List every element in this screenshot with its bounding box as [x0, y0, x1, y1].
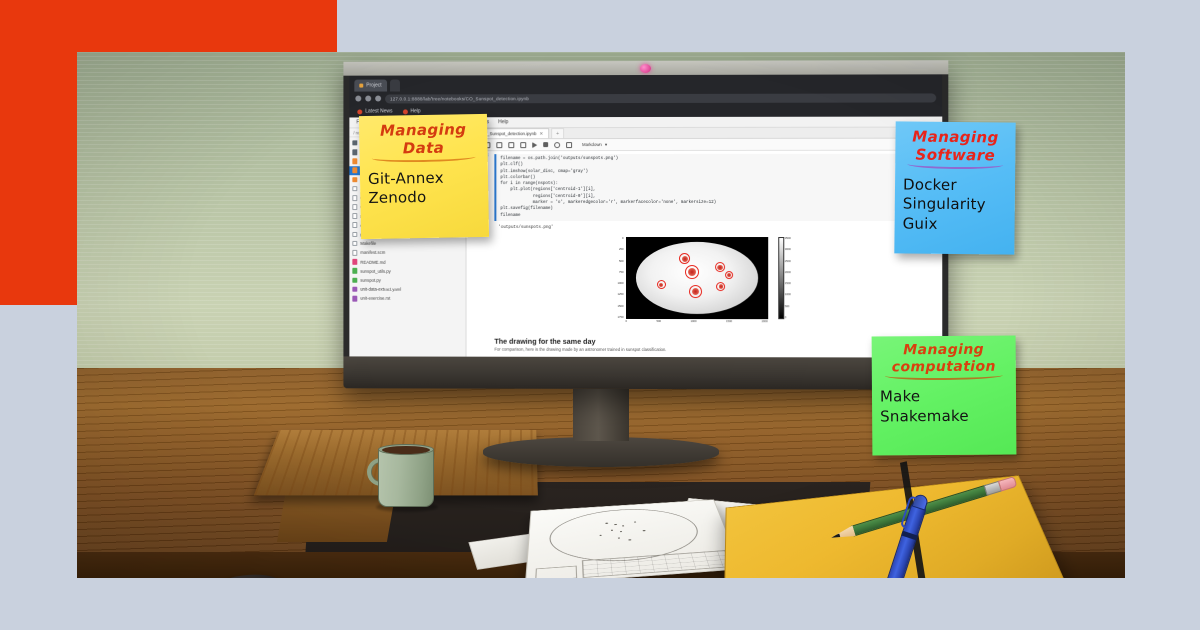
pencil-graphite-tip	[831, 533, 841, 539]
code-line-2: plt.clf()	[500, 163, 523, 167]
note-title: Managing Software	[903, 127, 1007, 169]
cell-type-select[interactable]: Markdown ▾	[582, 142, 607, 148]
sticky-note-managing-computation: Managing computation Make Snakemake	[872, 335, 1017, 455]
file-name: Makefile	[360, 241, 376, 246]
notebook-icon	[352, 177, 357, 183]
cbar-tick: 1500	[785, 282, 798, 285]
bookmark-help[interactable]: Help	[402, 108, 420, 114]
list-item[interactable]: manifest.scm	[349, 248, 465, 257]
output-cell: [17]: 'outputs/sunspots.png'	[467, 222, 943, 232]
new-tab-button[interactable]: +	[551, 128, 564, 138]
x-tick: 500	[657, 320, 661, 328]
back-icon[interactable]	[355, 96, 361, 102]
mug-body	[378, 447, 434, 507]
note-title-line1: Managing	[880, 342, 1008, 360]
sunspot-figure: 0 250 500 750 1000 1250 1500 1750	[610, 234, 798, 330]
colorbar	[778, 237, 784, 319]
bookmark-latest-news[interactable]: Latest News	[357, 108, 392, 114]
coffee-mug	[370, 442, 440, 510]
note-title-line1: Managing	[903, 127, 1007, 146]
y-tick: 750	[619, 271, 623, 274]
code-line-3: plt.imshow(solar_disc, cmap='gray')	[500, 170, 588, 174]
note-item-list: Make Snakemake	[880, 387, 1008, 427]
sunspot-drawing-sheet	[525, 499, 742, 578]
coffee-surface	[382, 446, 430, 454]
rst-icon	[352, 296, 357, 302]
note-item-list: Git-Annex Zenodo	[368, 168, 481, 210]
list-item[interactable]: unit-exercise.rst	[349, 294, 465, 303]
cell-type-value: Markdown	[582, 142, 602, 147]
note-item: Guix	[903, 215, 1007, 236]
notebook-panel: 02_Sunspot_detection.ipynb ✕ +	[467, 128, 943, 358]
code-editor[interactable]: filename = os.path.join('outputs/sunspot…	[494, 154, 942, 221]
notebook-toolbar: Markdown ▾ Python 3	[467, 139, 943, 152]
y-tick: 0	[622, 237, 623, 240]
monitor-top-bezel	[343, 60, 948, 75]
drawing-legend-box	[535, 566, 577, 578]
y-tick: 1750	[618, 316, 624, 319]
x-tick: 0	[626, 320, 627, 328]
file-icon	[352, 195, 357, 201]
python-icon	[352, 277, 357, 283]
cut-icon[interactable]	[496, 142, 502, 148]
sticky-note-managing-data: Managing Data Git-Annex Zenodo	[359, 114, 489, 239]
sunspot-marker	[725, 271, 733, 279]
notebook-scroll-area[interactable]: [17]: filename = os.path.join('outputs/s…	[467, 151, 943, 358]
accent-block-top	[0, 0, 337, 52]
notebook-tab-bar: 02_Sunspot_detection.ipynb ✕ +	[467, 128, 943, 140]
note-title: Managing Data	[367, 120, 480, 163]
file-name: unit-data-extract.yaml	[360, 287, 401, 292]
cbar-tick: 2500	[785, 260, 798, 263]
list-item[interactable]: README.md	[349, 257, 465, 266]
sticky-note-managing-software: Managing Software Docker Singularity Gui…	[894, 121, 1015, 254]
paste-icon[interactable]	[520, 142, 526, 148]
close-icon[interactable]: ✕	[539, 131, 543, 137]
cbar-tick: 3500	[785, 237, 798, 240]
x-tick: 2000	[762, 320, 768, 328]
output-body: 'outputs/sunspots.png'	[494, 225, 942, 231]
bookmark-label-2: Help	[410, 108, 420, 114]
forward-icon[interactable]	[365, 96, 371, 102]
notebook-icon	[352, 168, 357, 174]
y-tick: 500	[619, 260, 623, 263]
sunspot-marker	[685, 265, 699, 279]
cbar-tick: 500	[785, 305, 798, 308]
note-item: Make	[880, 387, 1008, 408]
y-tick: 250	[619, 248, 623, 251]
note-title-line1: Managing	[367, 120, 479, 140]
code-line-4: plt.colorbar()	[500, 176, 535, 180]
monitor-stand-base	[483, 437, 719, 467]
note-item: Git-Annex	[368, 168, 480, 190]
code-line-8: marker = 'o', markeredgecolor='r', marke…	[500, 201, 716, 205]
x-tick: 1000	[691, 320, 697, 328]
list-item[interactable]: unit-data-extract.yaml	[349, 285, 465, 294]
note-item-list: Docker Singularity Guix	[903, 175, 1008, 235]
list-item[interactable]: sunspot_utils.py	[349, 266, 465, 275]
run-icon[interactable]	[532, 142, 537, 148]
webcam-led-icon	[640, 64, 651, 73]
cbar-tick: 3000	[785, 248, 798, 251]
bookmark-icon-2	[402, 109, 407, 114]
monitor-stand-neck	[573, 389, 629, 441]
notebook-tab-label: 02_Sunspot_detection.ipynb	[482, 131, 536, 136]
note-title: Managing computation	[880, 342, 1008, 381]
file-icon	[352, 186, 357, 192]
browser-tab-active[interactable]: Project	[354, 80, 386, 92]
cbar-tick: 0	[785, 316, 798, 319]
code-line-5: for i in range(nspots):	[500, 182, 558, 186]
output-text: 'outputs/sunspots.png'	[494, 225, 942, 231]
y-tick: 1500	[618, 305, 624, 308]
monitor-bottom-bezel	[343, 356, 948, 389]
file-icon	[352, 232, 357, 238]
file-name: unit-exercise.rst	[360, 296, 390, 301]
file-icon	[352, 250, 357, 256]
cell-body: filename = os.path.join('outputs/sunspot…	[494, 154, 942, 221]
url-input[interactable]: 127.0.0.1:8888/lab/tree/notebooks/CO_Sun…	[385, 93, 936, 103]
notebook-icon	[352, 158, 357, 164]
restart-run-all-icon[interactable]	[566, 142, 572, 148]
sun-disk	[635, 242, 757, 314]
file-icon	[352, 222, 357, 228]
folder-icon	[352, 140, 357, 146]
file-name: README.md	[360, 259, 385, 264]
code-line-1: filename = os.path.join('outputs/sunspot…	[500, 157, 618, 161]
file-icon	[352, 213, 357, 219]
markdown-icon	[352, 259, 357, 265]
code-line-7: regions['centroid-0'][i],	[500, 195, 595, 199]
y-tick: 1000	[618, 282, 624, 285]
folder-icon	[352, 149, 357, 155]
code-line-6: plt.plot(regions['centroid-1'][i],	[500, 189, 595, 193]
file-icon	[352, 241, 357, 247]
stop-icon[interactable]	[543, 142, 548, 147]
chevron-down-icon: ▾	[605, 142, 607, 148]
file-name: sunspot_utils.py	[360, 269, 391, 274]
browser-tab-bar: Project	[349, 74, 942, 91]
bookmark-label: Latest News	[365, 108, 392, 114]
note-item: Snakemake	[880, 407, 1008, 428]
code-cell[interactable]: [17]: filename = os.path.join('outputs/s…	[467, 151, 943, 222]
browser-tab-new[interactable]	[390, 80, 400, 92]
cbar-tick: 1000	[785, 294, 798, 297]
file-name: sunspot.py	[360, 278, 381, 283]
menu-item-help[interactable]: Help	[498, 119, 508, 125]
restart-icon[interactable]	[554, 142, 560, 148]
desk-scene-illustration: Project 127.0.0.1:8888/lab/tree/notebook…	[77, 52, 1125, 578]
python-icon	[352, 268, 357, 274]
figure-axes: 0 250 500 750 1000 1250 1500 1750	[610, 234, 798, 330]
x-axis-ticks: 0 500 1000 1500 2000	[626, 320, 768, 328]
yaml-icon	[352, 287, 357, 293]
note-item: Singularity	[903, 195, 1007, 216]
note-item: Docker	[903, 175, 1007, 196]
tab-favicon-icon	[359, 84, 363, 88]
figure-output: 0 250 500 750 1000 1250 1500 1750	[467, 232, 943, 333]
solar-disk-image	[626, 237, 768, 319]
colorbar-ticks: 3500 3000 2500 2000 1500 1000 500 0	[785, 237, 798, 319]
code-line-9: plt.savefig(filename)	[500, 207, 553, 211]
file-name: manifest.scm	[360, 250, 385, 255]
list-item[interactable]: sunspot.py	[349, 276, 465, 285]
x-tick: 1500	[726, 320, 732, 328]
y-axis-ticks: 0 250 500 750 1000 1250 1500 1750	[610, 237, 625, 319]
reload-icon[interactable]	[375, 96, 381, 102]
code-line-10: filename	[500, 214, 520, 218]
note-title-underline	[885, 371, 1003, 381]
cbar-tick: 2000	[785, 271, 798, 274]
browser-url-bar: 127.0.0.1:8888/lab/tree/notebooks/CO_Sun…	[349, 90, 942, 105]
bookmark-icon	[357, 109, 362, 114]
browser-tab-label: Project	[366, 83, 381, 89]
list-item[interactable]: Makefile	[349, 239, 465, 248]
note-item: Zenodo	[368, 187, 480, 209]
copy-icon[interactable]	[508, 142, 514, 148]
file-icon	[352, 204, 357, 210]
y-tick: 1250	[618, 293, 624, 296]
